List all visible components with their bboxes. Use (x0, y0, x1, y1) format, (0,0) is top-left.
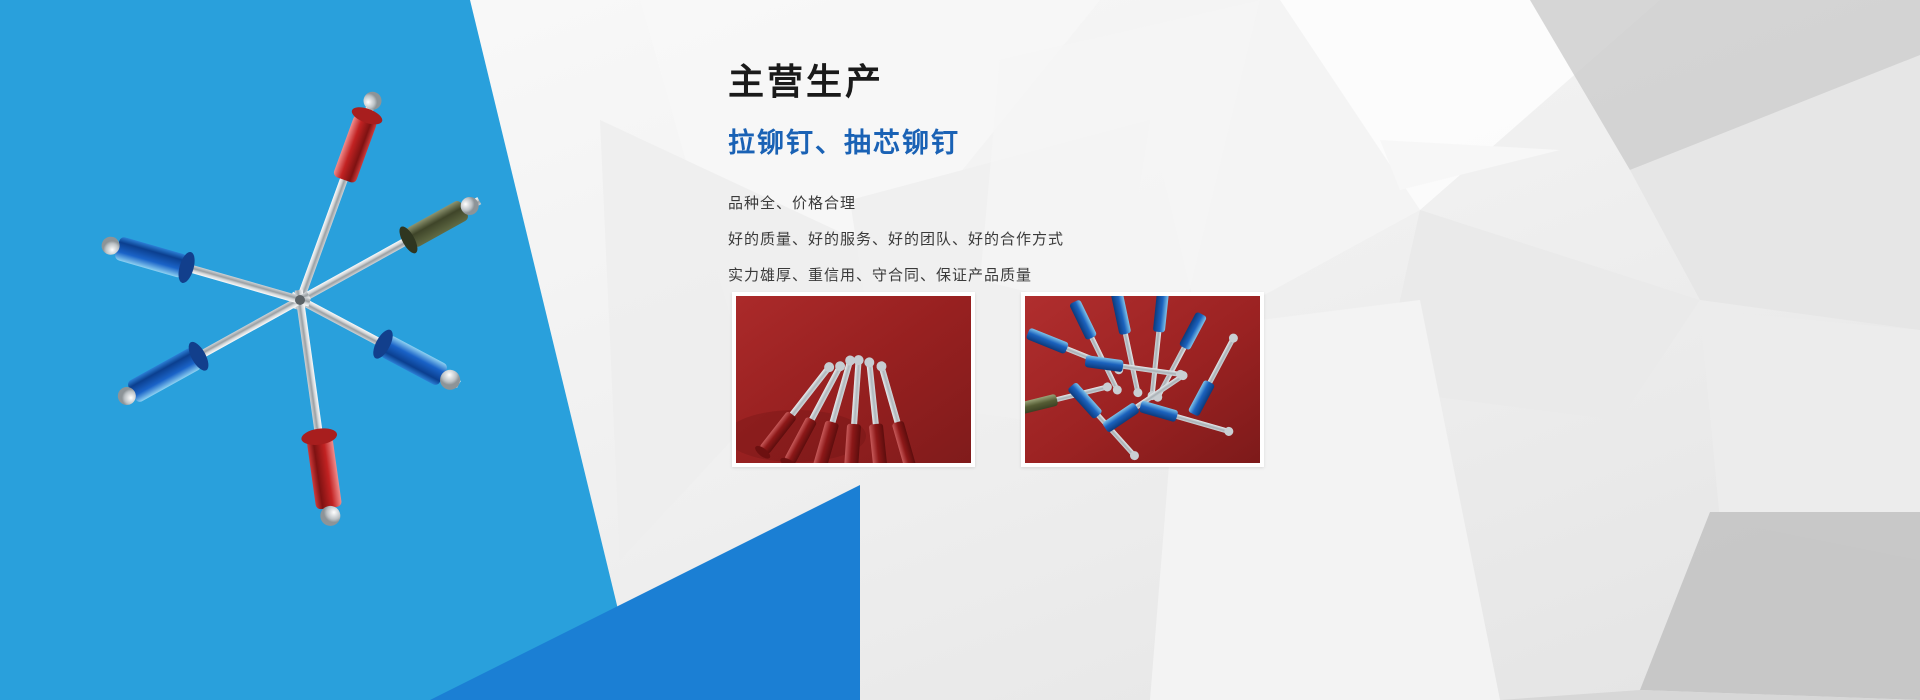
promo-banner: 主营生产 拉铆钉、抽芯铆钉 品种全、价格合理 好的质量、好的服务、好的团队、好的… (0, 0, 1920, 700)
red-rivets-photo[interactable] (732, 292, 975, 467)
red-rivets-photo-art (736, 296, 971, 463)
description-line: 好的质量、好的服务、好的团队、好的合作方式 (728, 222, 1728, 258)
product-photo-gallery (732, 292, 1264, 467)
mixed-rivets-photo-art (1025, 296, 1260, 463)
banner-description: 品种全、价格合理 好的质量、好的服务、好的团队、好的合作方式 实力雄厚、重信用、… (728, 186, 1728, 294)
mixed-rivets-photo[interactable] (1021, 292, 1264, 467)
banner-subtitle: 拉铆钉、抽芯铆钉 (728, 127, 1728, 159)
description-line: 品种全、价格合理 (728, 186, 1728, 222)
description-line: 实力雄厚、重信用、守合同、保证产品质量 (728, 258, 1728, 294)
banner-title: 主营生产 (728, 60, 1728, 103)
